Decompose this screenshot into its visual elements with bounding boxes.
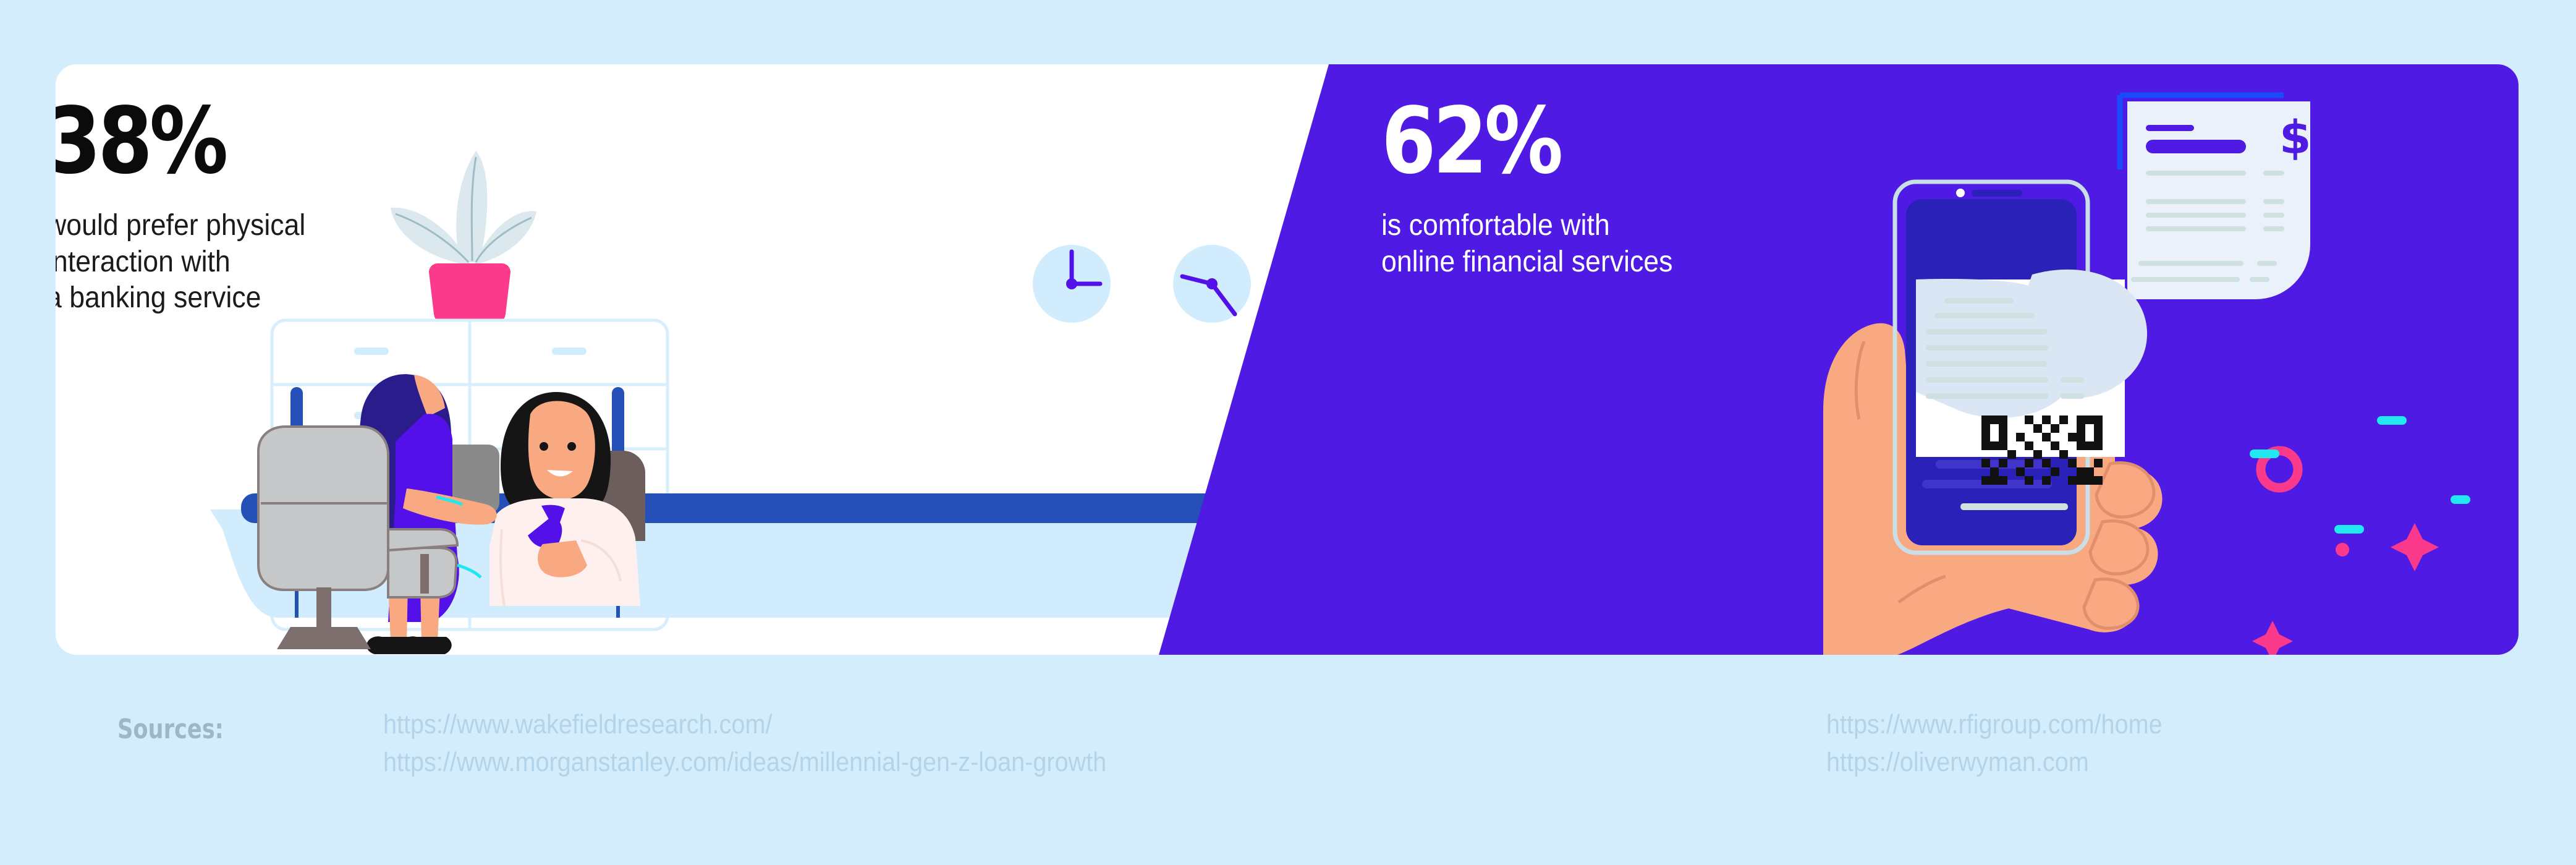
cyan-dash-icon [2334, 525, 2364, 534]
source-link[interactable]: https://oliverwyman.com [1826, 744, 2163, 782]
left-description-line-3: a banking service [56, 280, 483, 317]
right-percent: 62% [1381, 95, 1966, 187]
sources-column-2: https://www.rfigroup.com/home https://ol… [1826, 706, 2163, 781]
sources-label: Sources: [117, 714, 224, 745]
cyan-dash-icon [2377, 416, 2407, 425]
left-description-line-1: would prefer physical [56, 208, 483, 244]
left-stat-block: 38% would prefer physical interaction wi… [56, 95, 516, 317]
source-link[interactable]: https://www.wakefieldresearch.com/ [383, 706, 1106, 744]
pink-star-small-icon [2252, 621, 2293, 655]
left-percent: 38% [56, 95, 451, 187]
cyan-dash-icon [2250, 450, 2279, 458]
dollar-sign-icon: $ [2279, 111, 2311, 164]
sources-column-1: https://www.wakefieldresearch.com/ https… [383, 706, 1106, 781]
right-description: is comfortable with online financial ser… [1381, 208, 2014, 280]
source-link[interactable]: https://www.morganstanley.com/ideas/mill… [383, 744, 1106, 782]
left-description-line-2: interaction with [56, 244, 483, 281]
right-description-line-1: is comfortable with [1381, 208, 2014, 244]
invoice-document: $ [2120, 95, 2311, 299]
pink-star-large-icon [2391, 523, 2439, 571]
decor-shapes [2250, 416, 2470, 655]
wall-clock-left-icon [1033, 245, 1111, 323]
source-link[interactable]: https://www.rfigroup.com/home [1826, 706, 2163, 744]
wall-clock-right-icon [1173, 245, 1251, 323]
left-description: would prefer physical interaction with a… [56, 208, 483, 317]
right-description-line-2: online financial services [1381, 244, 2014, 281]
pink-dot-icon [2336, 543, 2349, 556]
infographic-card: 38% would prefer physical interaction wi… [56, 64, 2519, 655]
cyan-dash-icon [2451, 495, 2470, 504]
right-stat-block: 62% is comfortable with online financial… [1381, 95, 2061, 280]
sources-footer: Sources: https://www.wakefieldresearch.c… [0, 699, 2576, 847]
